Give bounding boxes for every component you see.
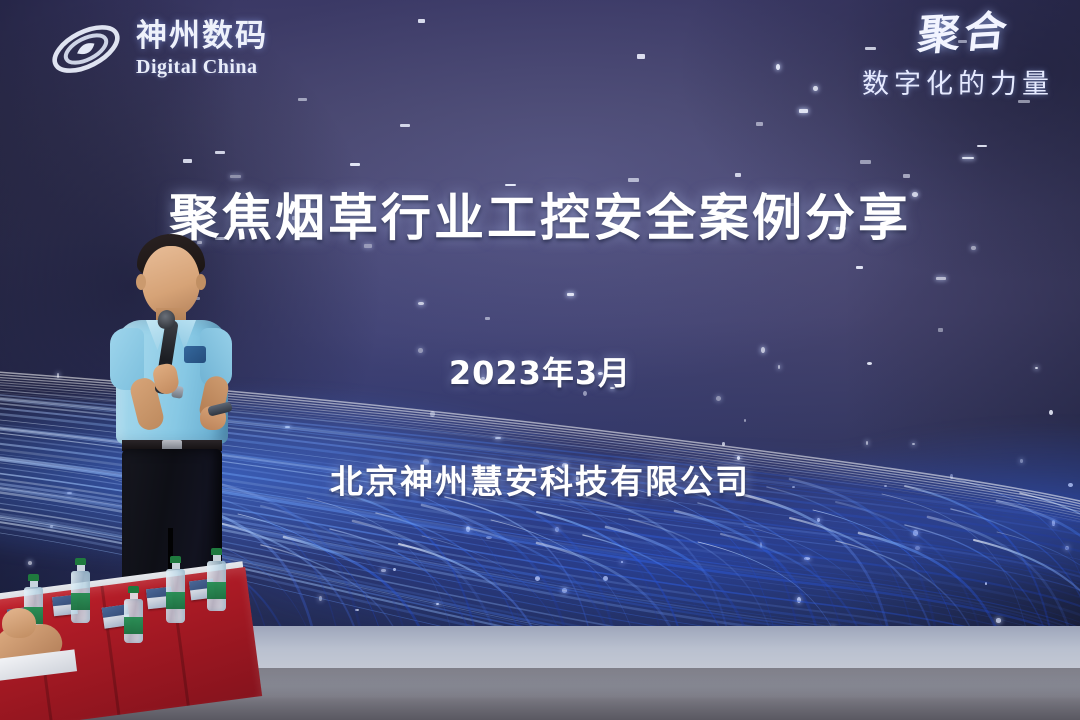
event-slogan: 聚合 数字化的力量 xyxy=(862,14,1054,101)
panelist-head xyxy=(2,608,36,638)
brand-logo-text: 神州数码 Digital China xyxy=(136,21,268,77)
screenshot-root: 神州数码 Digital China 聚合 数字化的力量 聚焦烟草行业工控安全案… xyxy=(0,0,1080,720)
bottle-label xyxy=(166,592,185,609)
bottle-cap xyxy=(211,548,222,555)
bottle-body xyxy=(207,561,226,611)
bottle-body xyxy=(124,599,143,643)
bottle-cap xyxy=(75,558,86,565)
water-bottle xyxy=(166,556,185,623)
digital-china-swirl-logo-icon xyxy=(46,18,126,80)
bottle-cap xyxy=(128,586,139,593)
speaker-ear-left xyxy=(136,274,146,290)
brand-name-cn: 神州数码 xyxy=(136,21,268,52)
bottle-body xyxy=(166,569,185,623)
bottle-cap xyxy=(28,574,39,581)
water-bottle xyxy=(124,586,143,643)
seated-panelist xyxy=(0,608,74,720)
speaker-head xyxy=(142,246,200,316)
bottle-cap xyxy=(170,556,181,563)
slogan-subtitle: 数字化的力量 xyxy=(862,62,1054,101)
water-bottle xyxy=(207,548,226,611)
speaker-ear-right xyxy=(196,274,206,290)
bottle-label xyxy=(124,617,143,634)
speaker-chest-logo-badge xyxy=(184,346,206,363)
brand-name-en: Digital China xyxy=(136,57,268,77)
bottle-label xyxy=(207,582,226,599)
brand-logo: 神州数码 Digital China xyxy=(46,18,268,80)
slogan-brush-text: 聚合 xyxy=(859,10,1012,60)
